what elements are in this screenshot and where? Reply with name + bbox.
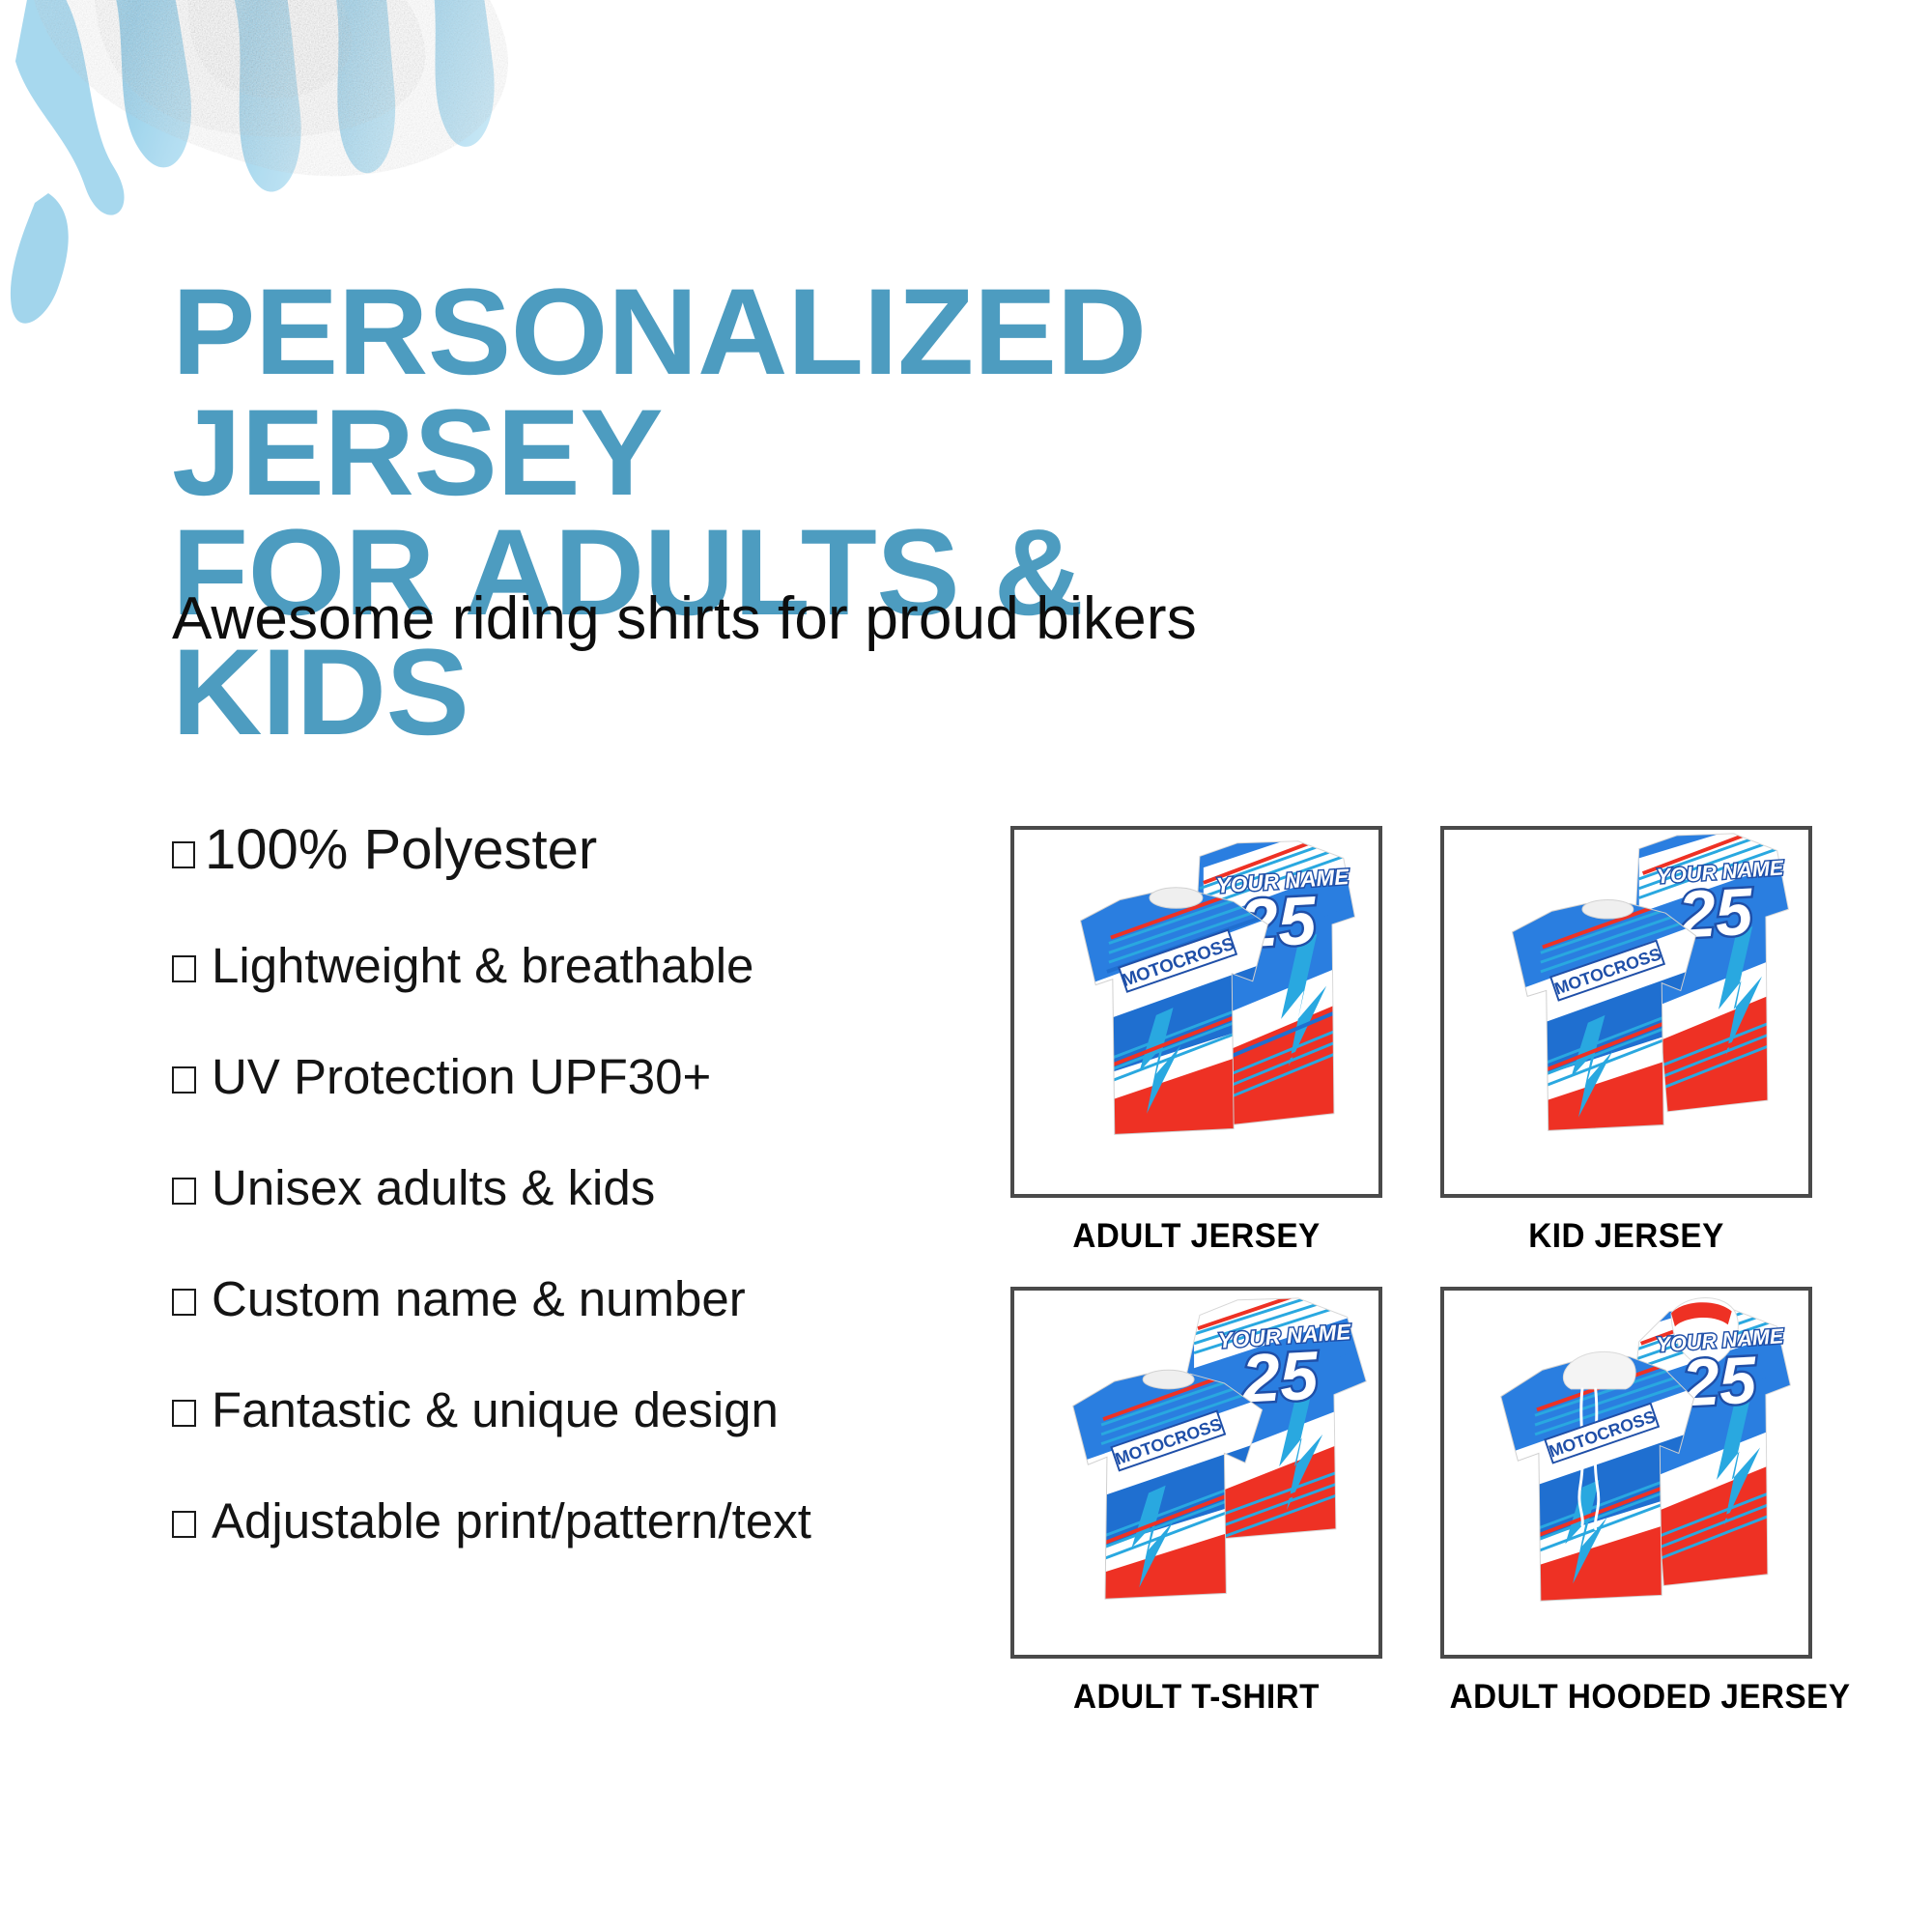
product-image-adult-hooded-jersey: YOUR NAME 25	[1440, 1287, 1812, 1659]
checkbox-square-icon	[172, 955, 196, 982]
feature-label: Lightweight & breathable	[212, 937, 753, 994]
page-title-line-1: PERSONALIZED JERSEY	[172, 263, 1147, 520]
checkbox-square-icon	[172, 841, 195, 868]
hood-collar	[1563, 1351, 1635, 1388]
product-caption: KID JERSEY	[1450, 1217, 1804, 1256]
product-image-kid-jersey: YOUR NAME 25	[1440, 826, 1812, 1198]
feature-label: Adjustable print/pattern/text	[212, 1492, 811, 1549]
product-grid-row-1: YOUR NAME 25	[1010, 826, 1812, 1256]
checkbox-square-icon	[172, 1400, 196, 1427]
page-title: PERSONALIZED JERSEY FOR ADULTS & KIDS	[172, 271, 1335, 753]
feature-label: Custom name & number	[212, 1270, 746, 1327]
product-image-adult-jersey: YOUR NAME 25	[1010, 826, 1382, 1198]
product-caption: ADULT T-SHIRT	[1020, 1678, 1374, 1717]
list-item: UV Protection UPF30+	[172, 1048, 964, 1105]
infographic-page: PERSONALIZED JERSEY FOR ADULTS & KIDS Aw…	[0, 0, 1932, 1932]
product-caption: ADULT HOODED JERSEY	[1450, 1678, 1804, 1717]
list-item: Unisex adults & kids	[172, 1159, 964, 1216]
checkbox-square-icon	[172, 1289, 196, 1316]
product-grid-row-2: YOUR NAME 25	[1010, 1287, 1812, 1717]
product-image-adult-tshirt: YOUR NAME 25	[1010, 1287, 1382, 1659]
product-cell-kid-jersey[interactable]: YOUR NAME 25	[1440, 826, 1812, 1256]
feature-label: UV Protection UPF30+	[212, 1048, 711, 1105]
list-item: Fantastic & unique design	[172, 1381, 964, 1438]
list-item: Lightweight & breathable	[172, 937, 964, 994]
list-item: Custom name & number	[172, 1270, 964, 1327]
feature-label: Unisex adults & kids	[212, 1159, 655, 1216]
product-cell-adult-tshirt[interactable]: YOUR NAME 25	[1010, 1287, 1382, 1717]
checkbox-square-icon	[172, 1178, 196, 1205]
product-cell-adult-jersey[interactable]: YOUR NAME 25	[1010, 826, 1382, 1256]
checkbox-square-icon	[172, 1066, 196, 1094]
product-cell-adult-hooded-jersey[interactable]: YOUR NAME 25	[1440, 1287, 1812, 1717]
page-subtitle: Awesome riding shirts for proud bikers	[172, 584, 1197, 653]
checkbox-square-icon	[172, 1511, 196, 1538]
list-item: Adjustable print/pattern/text	[172, 1492, 964, 1549]
feature-list: 100% Polyester Lightweight & breathable …	[172, 817, 964, 1549]
feature-label: Fantastic & unique design	[212, 1381, 779, 1438]
product-caption: ADULT JERSEY	[1020, 1217, 1374, 1256]
feature-label: 100% Polyester	[205, 817, 597, 882]
product-grid: YOUR NAME 25	[1010, 826, 1812, 1717]
list-item: 100% Polyester	[172, 817, 964, 882]
